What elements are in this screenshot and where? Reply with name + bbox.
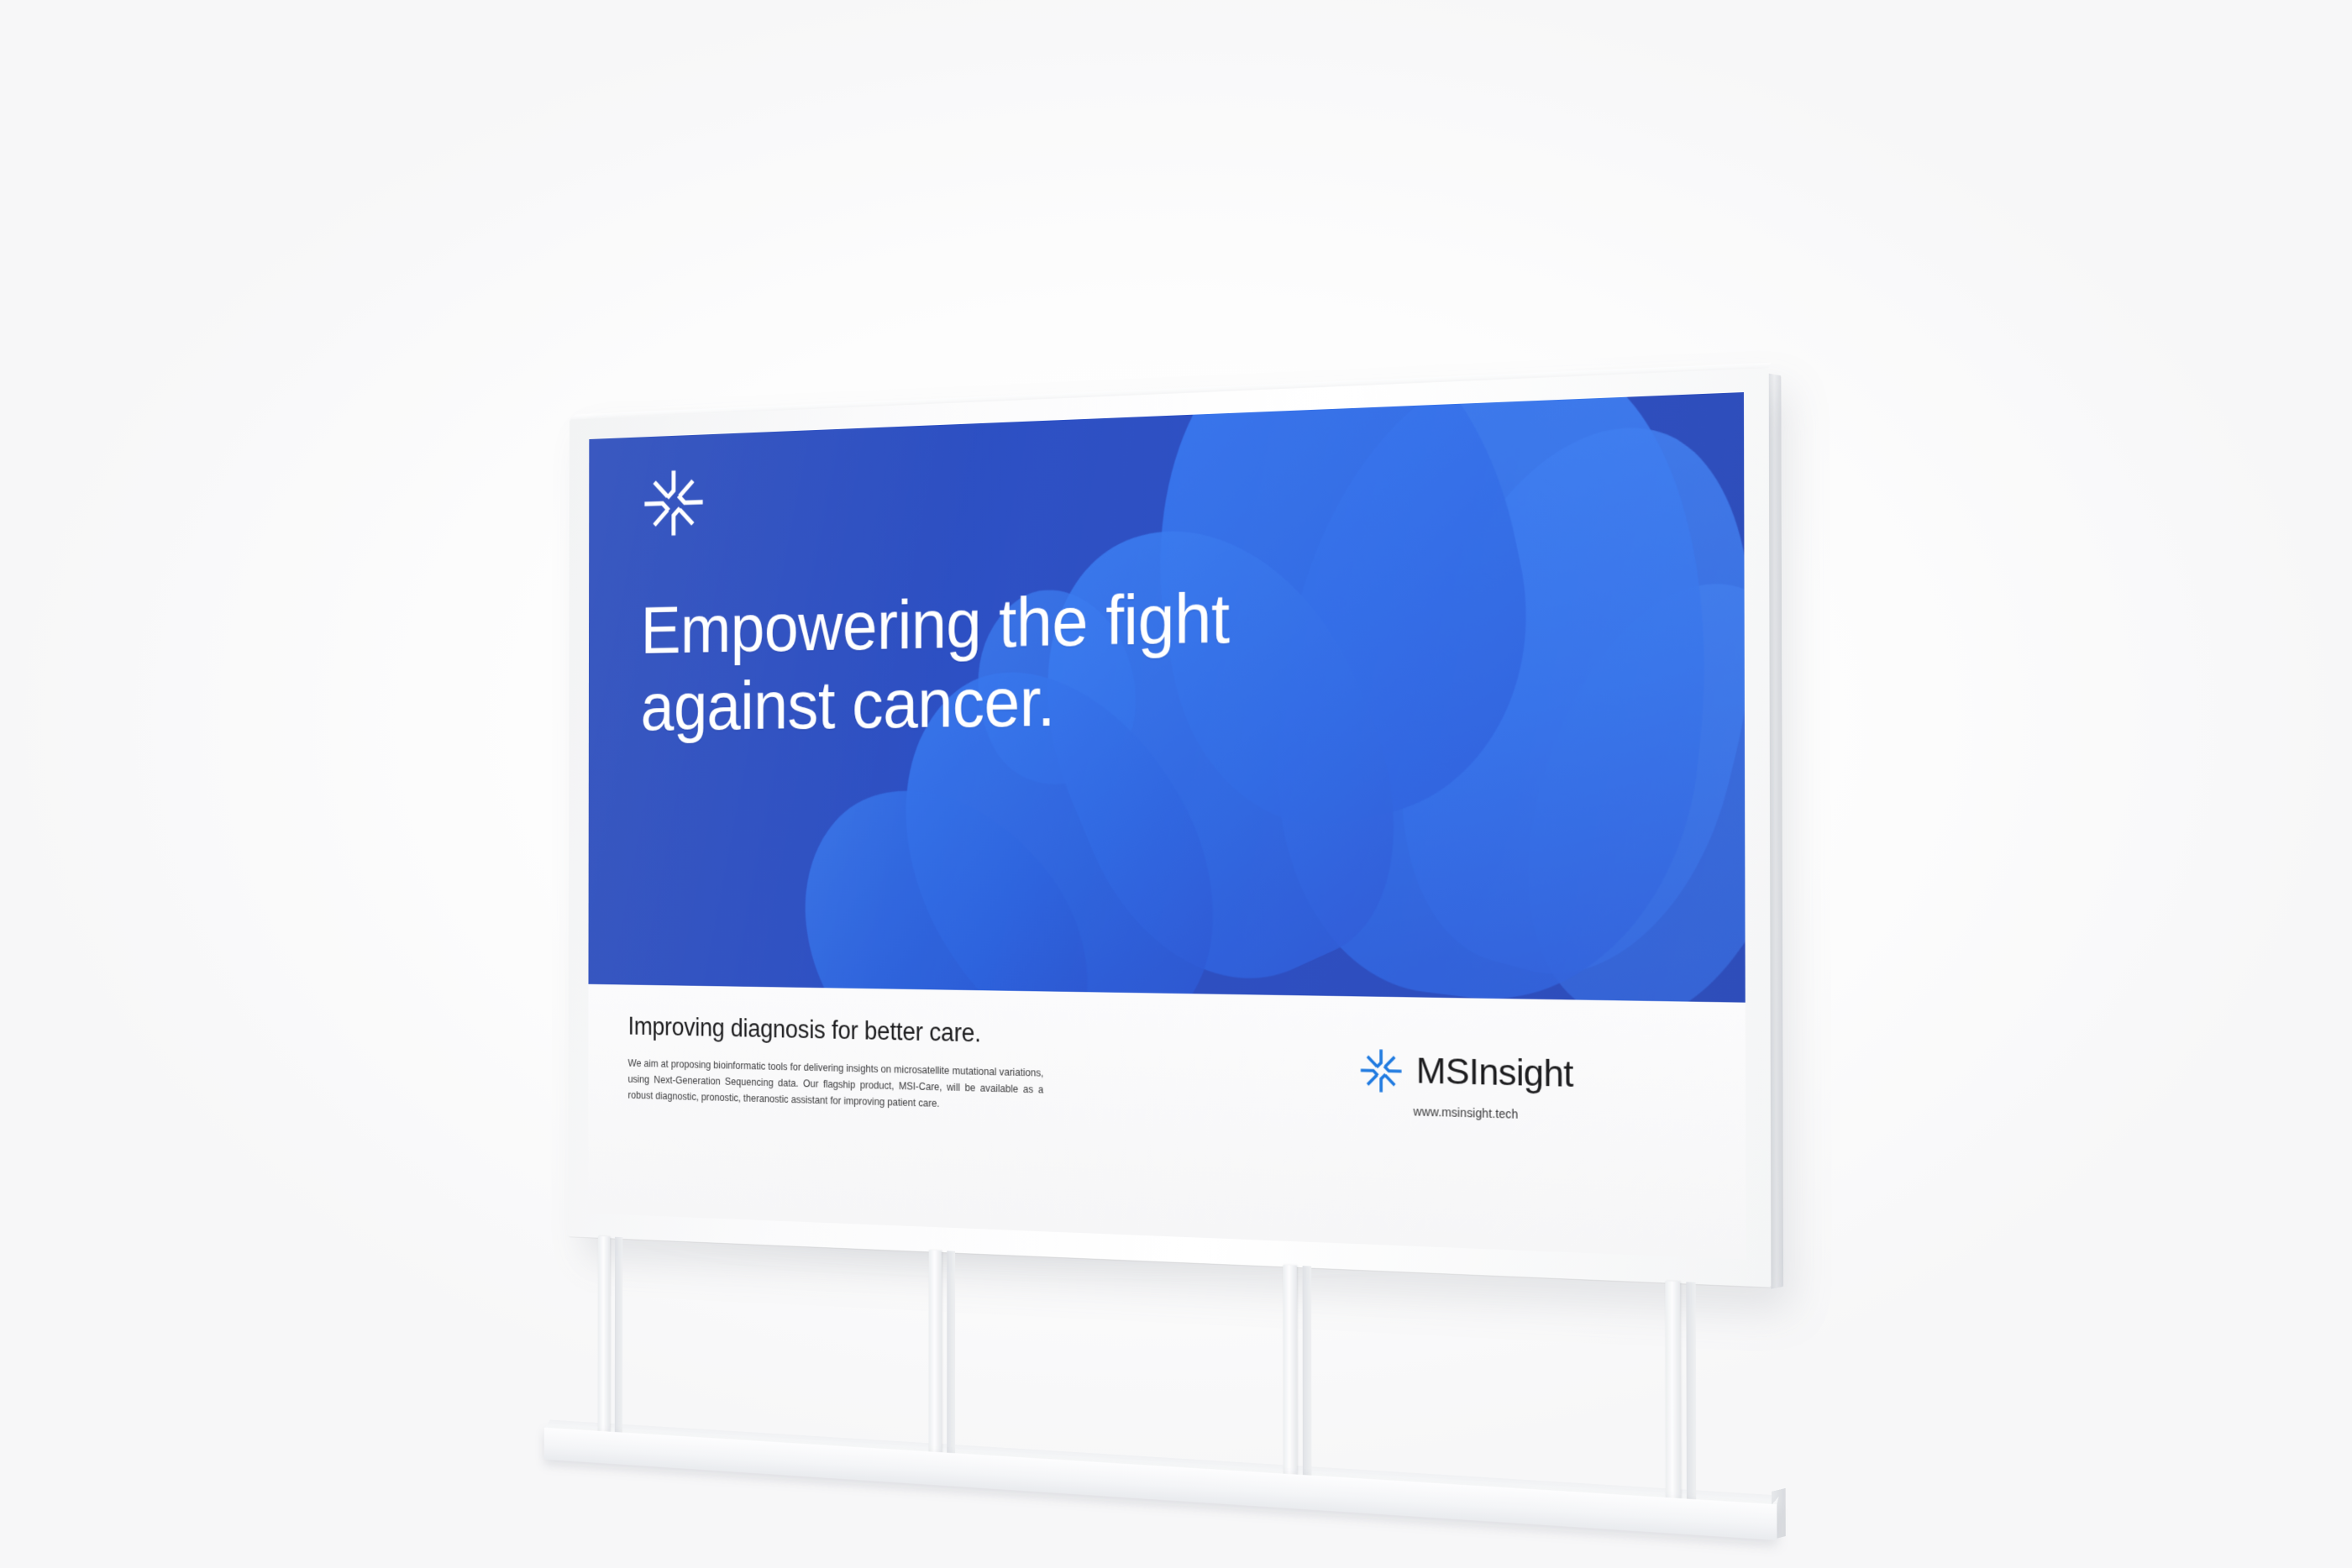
poster-sub-headline: Improving diagnosis for better care. bbox=[628, 1012, 1200, 1053]
support-leg-back-4 bbox=[1686, 1282, 1696, 1524]
perspective-stage: Empowering the fight against cancer. Imp… bbox=[0, 0, 2352, 1568]
support-leg-back-2 bbox=[947, 1251, 955, 1476]
support-leg-1 bbox=[598, 1236, 611, 1451]
support-leg-back-3 bbox=[1303, 1266, 1312, 1499]
msinsight-logo-lockup[interactable]: MSInsight bbox=[1360, 1047, 1573, 1098]
footer-text-block: Improving diagnosis for better care. We … bbox=[628, 1012, 1200, 1120]
msinsight-convergence-icon bbox=[643, 468, 704, 538]
msinsight-url[interactable]: www.msinsight.tech bbox=[1414, 1104, 1519, 1121]
support-leg-3 bbox=[1283, 1265, 1297, 1495]
poster-white-panel: Improving diagnosis for better care. We … bbox=[588, 983, 1746, 1259]
poster-body-copy: We aim at proposing bioinformatic tools … bbox=[628, 1055, 1044, 1115]
support-leg-back-1 bbox=[615, 1237, 623, 1455]
msinsight-wordmark: MSInsight bbox=[1416, 1050, 1573, 1096]
billboard[interactable]: Empowering the fight against cancer. Imp… bbox=[569, 368, 1772, 1287]
headline-line-2: against cancer. bbox=[641, 659, 1230, 746]
headline-line-1: Empowering the fight bbox=[641, 579, 1230, 669]
billboard-mockup-scene: Empowering the fight against cancer. Imp… bbox=[0, 0, 2352, 1568]
footer-logo-block: MSInsight www.msinsight.tech bbox=[1242, 1023, 1698, 1125]
support-leg-4 bbox=[1665, 1281, 1680, 1519]
poster-headline: Empowering the fight against cancer. bbox=[641, 579, 1230, 746]
poster-blue-panel: Empowering the fight against cancer. bbox=[588, 392, 1745, 1002]
support-leg-2 bbox=[929, 1250, 942, 1471]
billboard-frame-side-edge bbox=[1769, 374, 1784, 1289]
